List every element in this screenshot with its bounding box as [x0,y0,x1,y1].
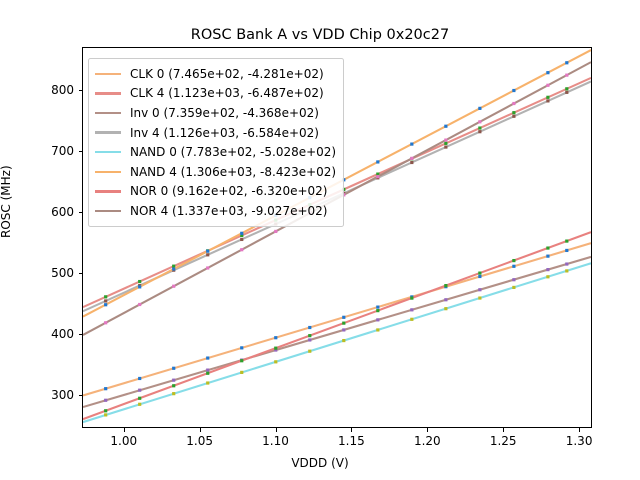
x-tick-mark [579,428,580,432]
legend-item-label: NAND 4 (1.306e+03, -8.423e+02) [130,166,336,178]
y-tick-label: 600 [14,205,74,219]
x-tick-mark [427,428,428,432]
legend-item-label: Inv 0 (7.359e+02, -4.368e+02) [130,107,319,119]
y-tick-label: 700 [14,144,74,158]
y-tick-mark [79,273,83,274]
x-tick-label: 1.15 [321,434,381,448]
y-tick-mark [79,212,83,213]
y-tick-mark [79,334,83,335]
legend-item-label: Inv 4 (1.126e+03, -6.584e+02) [130,127,319,139]
legend-item[interactable]: Inv 4 (1.126e+03, -6.584e+02) [95,123,336,143]
x-tick-mark [124,428,125,432]
x-tick-label: 1.20 [397,434,457,448]
x-tick-mark [351,428,352,432]
x-axis-label: VDDD (V) [0,456,640,470]
legend-item[interactable]: NOR 4 (1.337e+03, -9.027e+02) [95,201,336,221]
y-tick-label: 800 [14,83,74,97]
legend-color-swatch [95,151,121,153]
legend-color-swatch [95,92,121,94]
legend-item[interactable]: NOR 0 (9.162e+02, -6.320e+02) [95,182,336,202]
legend-item-label: NAND 0 (7.783e+02, -5.028e+02) [130,146,336,158]
legend-item[interactable]: CLK 4 (1.123e+03, -6.487e+02) [95,84,336,104]
x-tick-mark [200,428,201,432]
x-tick-mark [503,428,504,432]
y-tick-label: 400 [14,327,74,341]
x-tick-label: 1.30 [549,434,609,448]
x-tick-label: 1.10 [246,434,306,448]
legend-item-label: NOR 4 (1.337e+03, -9.027e+02) [130,205,327,217]
legend-color-swatch [95,190,121,192]
y-tick-label: 300 [14,388,74,402]
legend-color-swatch [95,171,121,173]
legend-color-swatch [95,210,121,212]
x-tick-label: 1.00 [94,434,154,448]
y-tick-mark [79,395,83,396]
legend-item-label: CLK 0 (7.465e+02, -4.281e+02) [130,68,324,80]
y-tick-label: 500 [14,266,74,280]
legend-color-swatch [95,112,121,114]
legend-item[interactable]: NAND 4 (1.306e+03, -8.423e+02) [95,162,336,182]
x-tick-mark [276,428,277,432]
x-tick-label: 1.05 [170,434,230,448]
legend-item-label: NOR 0 (9.162e+02, -6.320e+02) [130,185,327,197]
x-tick-label: 1.25 [473,434,533,448]
figure-canvas: ROSC Bank A vs VDD Chip 0x20c27 30040050… [0,0,640,480]
legend-item[interactable]: Inv 0 (7.359e+02, -4.368e+02) [95,103,336,123]
y-tick-mark [79,90,83,91]
page-title: ROSC Bank A vs VDD Chip 0x20c27 [0,27,640,43]
legend-item[interactable]: NAND 0 (7.783e+02, -5.028e+02) [95,142,336,162]
legend-color-swatch [95,73,121,75]
legend-color-swatch [95,131,121,133]
y-axis-label: ROSC (MHz) [0,165,13,238]
legend-item[interactable]: CLK 0 (7.465e+02, -4.281e+02) [95,64,336,84]
legend-item-label: CLK 4 (1.123e+03, -6.487e+02) [130,87,324,99]
legend: CLK 0 (7.465e+02, -4.281e+02)CLK 4 (1.12… [88,58,344,227]
y-tick-mark [79,151,83,152]
